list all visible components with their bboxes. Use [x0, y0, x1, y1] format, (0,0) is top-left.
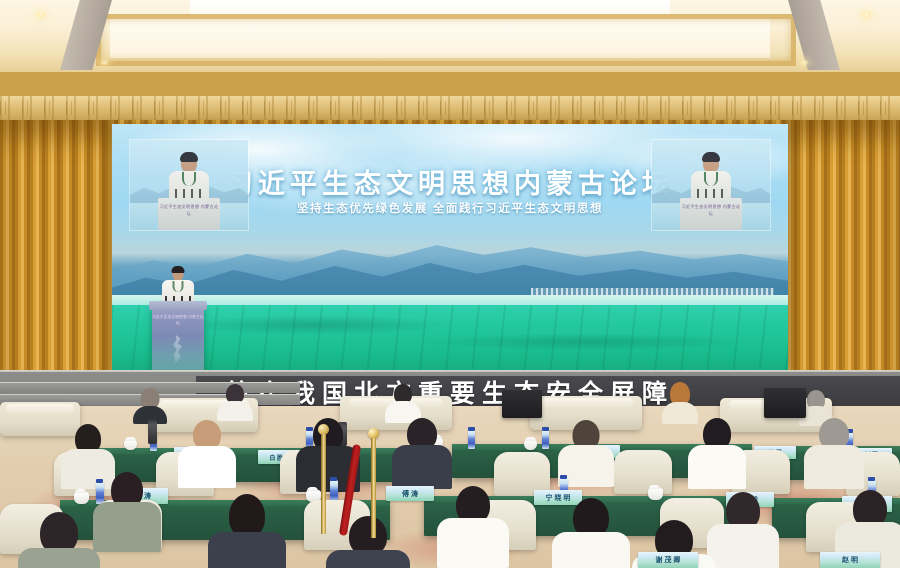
feed-podium: 习近平生态文明思想 内蒙古论坛: [158, 198, 220, 230]
audience-person: [560, 420, 612, 480]
black-monitor: [502, 390, 542, 418]
screen-grassland: [112, 305, 788, 372]
downlight-icon: [36, 12, 45, 17]
water-bottle: [542, 430, 549, 449]
live-feed-left: 习近平生态文明思想 内蒙古论坛: [130, 140, 248, 230]
cup-lid: [307, 487, 318, 491]
audience-person: [180, 420, 234, 482]
stanchion-post: [371, 438, 376, 538]
downlight-icon: [100, 60, 109, 65]
water-bottle: [468, 430, 475, 449]
lanyard-icon: [704, 172, 718, 186]
person-torso: [208, 532, 286, 568]
speaker-hair: [180, 152, 198, 162]
audience-chair: [614, 450, 672, 494]
led-stage-screen: 习近平生态文明思想内蒙古论坛 坚持生态优先绿色发展 全面践行习近平生态文明思想 …: [112, 124, 788, 372]
person-torso: [707, 524, 779, 568]
sofa-cushion: [539, 398, 633, 407]
audience-person: [556, 498, 626, 568]
person-torso: [392, 445, 452, 489]
person-torso: [688, 445, 746, 489]
speaker-hair: [702, 152, 720, 162]
audience-person: [394, 418, 450, 482]
feed-podium-text: 习近平生态文明思想 内蒙古论坛: [680, 203, 742, 217]
audience-person: [440, 486, 506, 562]
lanyard-icon: [173, 281, 184, 292]
podium-logo-icon: [168, 335, 188, 363]
bottle-cap: [330, 477, 337, 481]
name-card: 赵 明: [820, 552, 880, 568]
bottle-cap: [868, 477, 875, 481]
person-torso: [552, 532, 630, 568]
downlight-icon: [862, 12, 871, 17]
stage-podium: 习近平生态文明思想 内蒙古论坛: [152, 305, 204, 373]
thermos-flask: [148, 420, 157, 444]
person-torso: [804, 445, 864, 489]
downlight-icon: [800, 60, 809, 65]
person-torso: [326, 550, 410, 568]
speaker-hair: [172, 266, 185, 273]
tea-cup: [74, 492, 89, 504]
conference-hall-scene: 习近平生态文明思想内蒙古论坛 坚持生态优先绿色发展 全面践行习近平生态文明思想 …: [0, 0, 900, 568]
ceiling-greek-key-frieze: [0, 96, 900, 120]
feed-podium-text: 习近平生态文明思想 内蒙古论坛: [158, 203, 220, 217]
podium-text: 习近平生态文明思想 内蒙古论坛: [152, 314, 204, 326]
live-feed-right: 习近平生态文明思想 内蒙古论坛: [652, 140, 770, 230]
person-torso: [437, 518, 509, 568]
podium-top: [149, 301, 207, 310]
bottle-cap: [468, 427, 475, 431]
audience-person: [133, 388, 167, 414]
cup-lid: [649, 485, 660, 489]
person-torso: [217, 401, 253, 421]
audience-person: [710, 492, 776, 568]
water-bottle: [330, 480, 338, 502]
name-card: 傅 涛: [386, 486, 434, 501]
audience-person: [690, 418, 744, 480]
bottle-cap: [560, 475, 567, 479]
bottle-cap: [542, 427, 549, 431]
feed-podium: 习近平生态文明思想 内蒙古论坛: [680, 198, 742, 230]
gold-stanchion: [318, 424, 330, 536]
cup-lid: [75, 489, 86, 493]
lanyard-icon: [182, 172, 196, 186]
audience-person: [22, 512, 96, 568]
cup-lid: [125, 437, 136, 441]
name-card: 谢 茂 卿: [638, 552, 698, 568]
audience-person: [212, 494, 282, 568]
ceiling: [0, 0, 900, 72]
audience-person: [386, 384, 420, 412]
sofa-cushion: [6, 404, 73, 413]
audience-person: [663, 382, 697, 412]
audience-person: [96, 472, 158, 542]
person-torso: [18, 548, 100, 568]
audience-person: [806, 418, 862, 482]
person-torso: [178, 446, 236, 488]
cup-lid: [525, 437, 536, 441]
stanchion-post: [321, 434, 326, 534]
audience-person: [218, 384, 252, 412]
gold-stanchion: [368, 428, 380, 540]
ceiling-gold-frame: [96, 14, 796, 66]
black-monitor: [764, 388, 806, 418]
person-torso: [93, 502, 161, 552]
tea-cup: [648, 488, 663, 500]
